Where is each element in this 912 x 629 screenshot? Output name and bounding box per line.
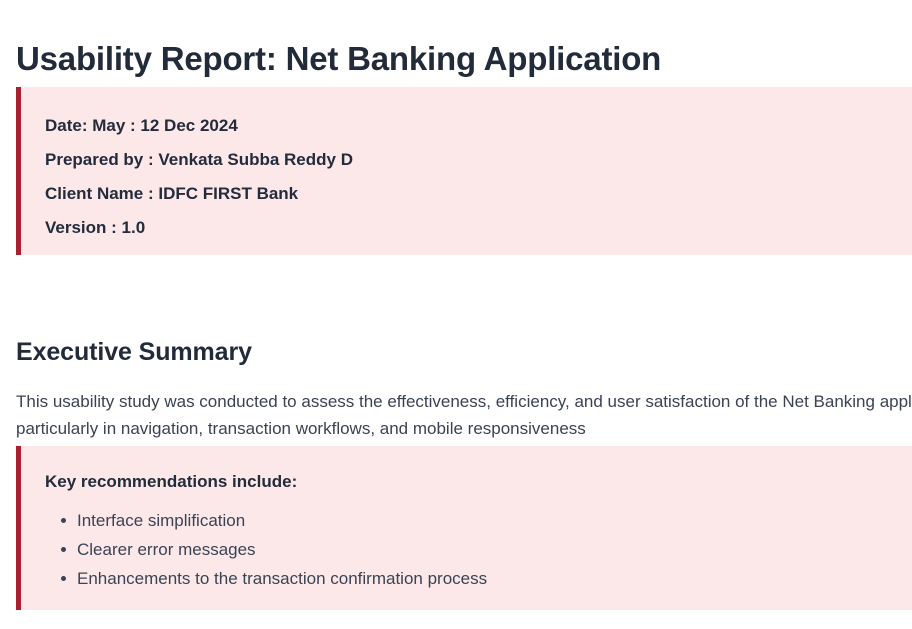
key-recommendations-list: Interface simplification Clearer error m… xyxy=(45,506,912,593)
list-item: Interface simplification xyxy=(77,506,912,535)
document-page: Usability Report: Net Banking Applicatio… xyxy=(0,0,912,629)
metadata-line-date: Date: May : 12 Dec 2024 xyxy=(45,109,912,143)
metadata-line-client-name: Client Name : IDFC FIRST Bank xyxy=(45,177,912,211)
executive-summary-paragraph: This usability study was conducted to as… xyxy=(16,388,912,442)
metadata-line-prepared-by: Prepared by : Venkata Subba Reddy D xyxy=(45,143,912,177)
key-recommendations-callout: Key recommendations include: Interface s… xyxy=(16,446,912,610)
list-item: Enhancements to the transaction confirma… xyxy=(77,564,912,593)
document-metadata-callout: Date: May : 12 Dec 2024 Prepared by : Ve… xyxy=(16,87,912,255)
list-item: Clearer error messages xyxy=(77,535,912,564)
metadata-line-version: Version : 1.0 xyxy=(45,211,912,245)
key-recommendations-title: Key recommendations include: xyxy=(45,470,912,494)
page-title: Usability Report: Net Banking Applicatio… xyxy=(16,36,896,82)
section-heading-executive-summary: Executive Summary xyxy=(16,334,252,370)
